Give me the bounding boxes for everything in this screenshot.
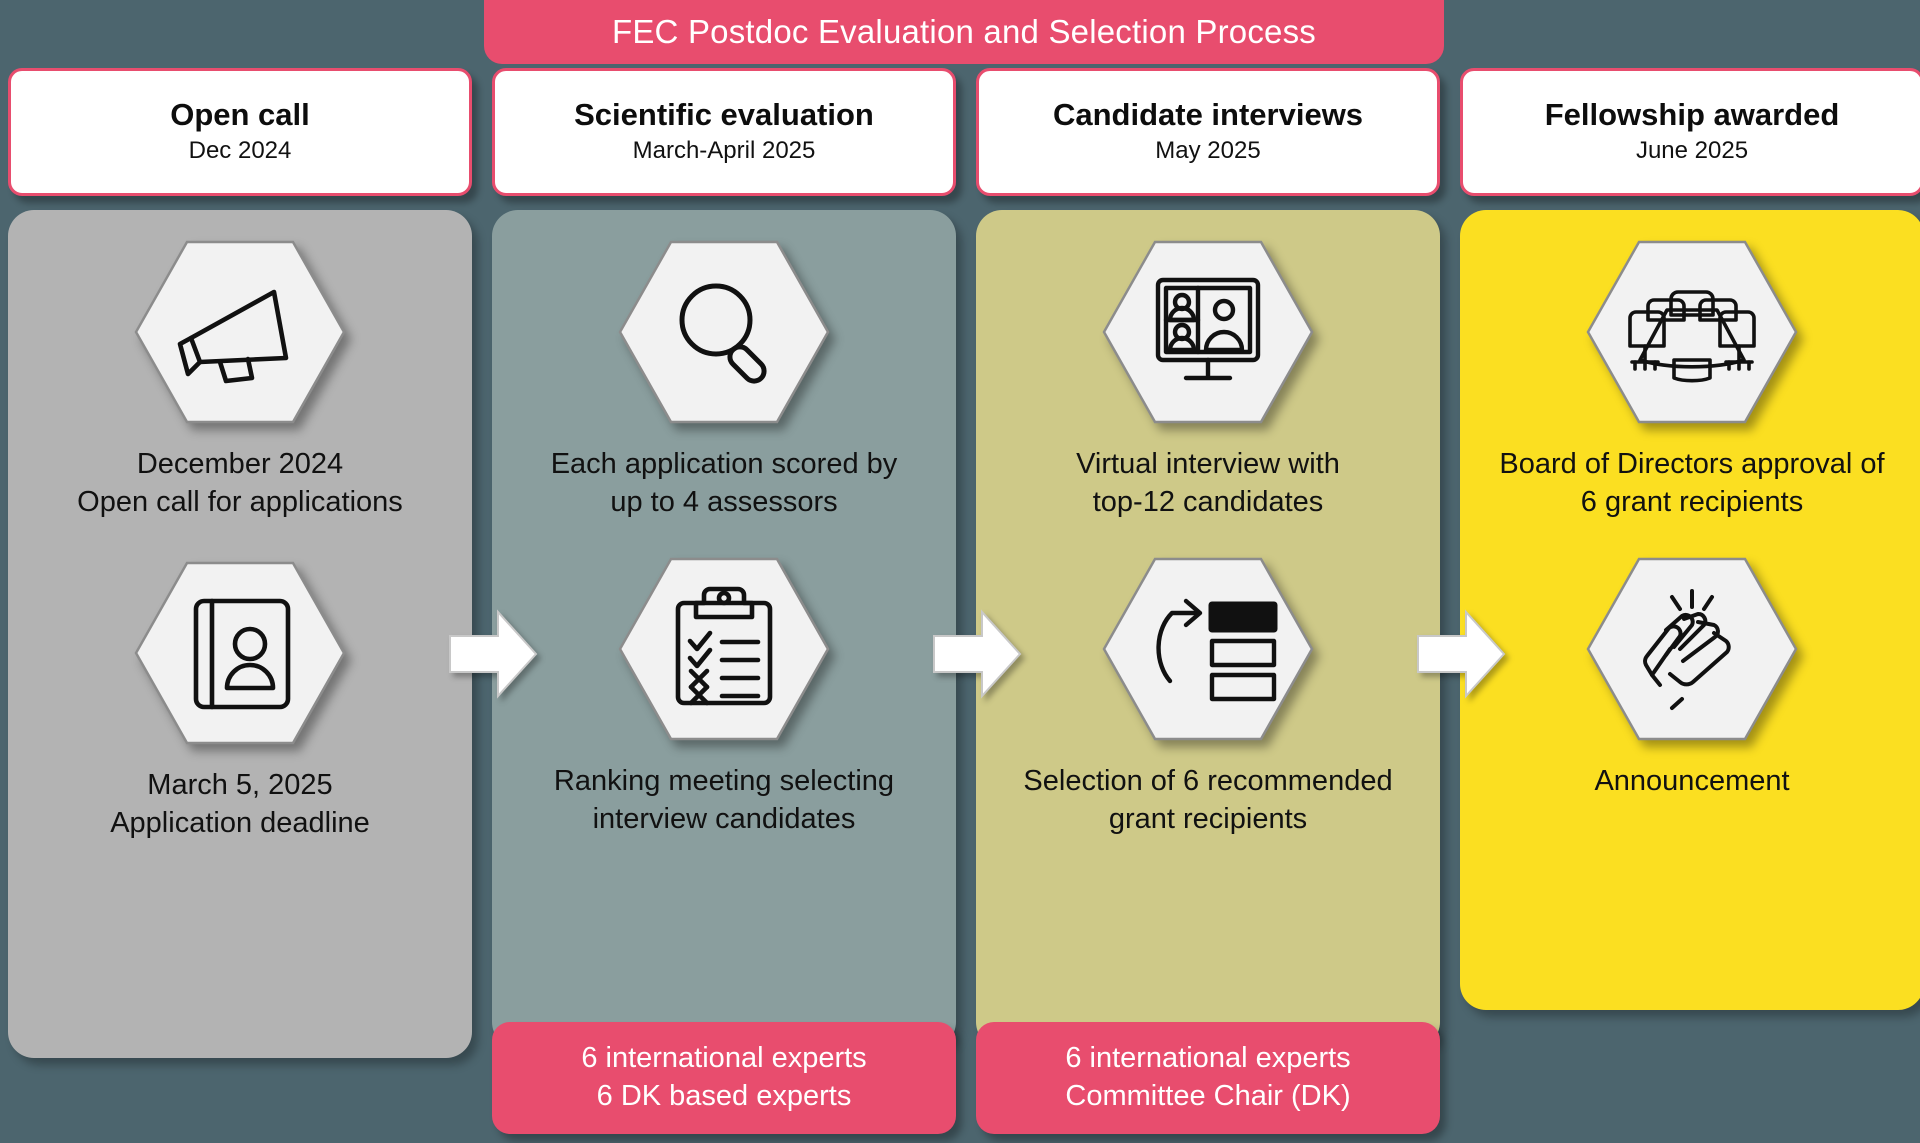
boardroom-table-icon xyxy=(1586,240,1798,424)
stage-body-2: Each application scored by up to 4 asses… xyxy=(492,210,956,1048)
stage-subtitle-4: June 2025 xyxy=(1636,137,1748,165)
stage-item-text-3-2: Selection of 6 recommended grant recipie… xyxy=(976,763,1440,838)
stage-item-text-1-1: December 2024 Open call for applications xyxy=(8,446,472,521)
stage-subtitle-1: Dec 2024 xyxy=(189,137,292,165)
stage-footer-chip-3: 6 international experts Committee Chair … xyxy=(976,1022,1440,1134)
process-columns: Open call Dec 2024 December 2024 Open ca… xyxy=(0,0,1920,1143)
stage-item-text-4-1: Board of Directors approval of 6 grant r… xyxy=(1460,446,1920,521)
clipboard-checklist-icon xyxy=(618,557,830,741)
video-interview-icon xyxy=(1102,240,1314,424)
stage-column-open-call: Open call Dec 2024 December 2024 Open ca… xyxy=(8,68,472,1058)
address-book-icon xyxy=(134,561,346,745)
stage-title-3: Candidate interviews xyxy=(1053,99,1363,132)
stage-column-fellowship-awarded: Fellowship awarded June 2025 xyxy=(1460,68,1920,1010)
flow-arrow-2-icon xyxy=(932,608,1022,700)
stage-subtitle-2: March-April 2025 xyxy=(633,137,816,165)
stage-footer-chip-2: 6 international experts 6 DK based exper… xyxy=(492,1022,956,1134)
stage-body-3: Virtual interview with top-12 candidates xyxy=(976,210,1440,1048)
flow-arrow-3-icon xyxy=(1416,608,1506,700)
stage-item-text-1-2: March 5, 2025 Application deadline xyxy=(8,767,472,842)
process-banner: FEC Postdoc Evaluation and Selection Pro… xyxy=(484,0,1444,64)
applause-hands-icon xyxy=(1586,557,1798,741)
stage-header-card-3: Candidate interviews May 2025 xyxy=(976,68,1440,196)
stage-item-text-4-2: Announcement xyxy=(1460,763,1920,801)
stage-header-card-1: Open call Dec 2024 xyxy=(8,68,472,196)
magnifier-icon xyxy=(618,240,830,424)
banner-title: FEC Postdoc Evaluation and Selection Pro… xyxy=(612,13,1316,51)
stage-item-text-2-2: Ranking meeting selecting interview cand… xyxy=(492,763,956,838)
stage-title-1: Open call xyxy=(170,99,310,132)
select-from-list-icon xyxy=(1102,557,1314,741)
stage-subtitle-3: May 2025 xyxy=(1155,137,1260,165)
stage-item-text-3-1: Virtual interview with top-12 candidates xyxy=(976,446,1440,521)
stage-title-2: Scientific evaluation xyxy=(574,99,874,132)
stage-title-4: Fellowship awarded xyxy=(1545,99,1840,132)
stage-body-1: December 2024 Open call for applications… xyxy=(8,210,472,1058)
megaphone-icon xyxy=(134,240,346,424)
stage-column-candidate-interviews: Candidate interviews May 2025 xyxy=(976,68,1440,1048)
stage-header-card-4: Fellowship awarded June 2025 xyxy=(1460,68,1920,196)
stage-item-text-2-1: Each application scored by up to 4 asses… xyxy=(492,446,956,521)
stage-header-card-2: Scientific evaluation March-April 2025 xyxy=(492,68,956,196)
flow-arrow-1-icon xyxy=(448,608,538,700)
stage-body-4: Board of Directors approval of 6 grant r… xyxy=(1460,210,1920,1010)
stage-column-scientific-evaluation: Scientific evaluation March-April 2025 E… xyxy=(492,68,956,1048)
